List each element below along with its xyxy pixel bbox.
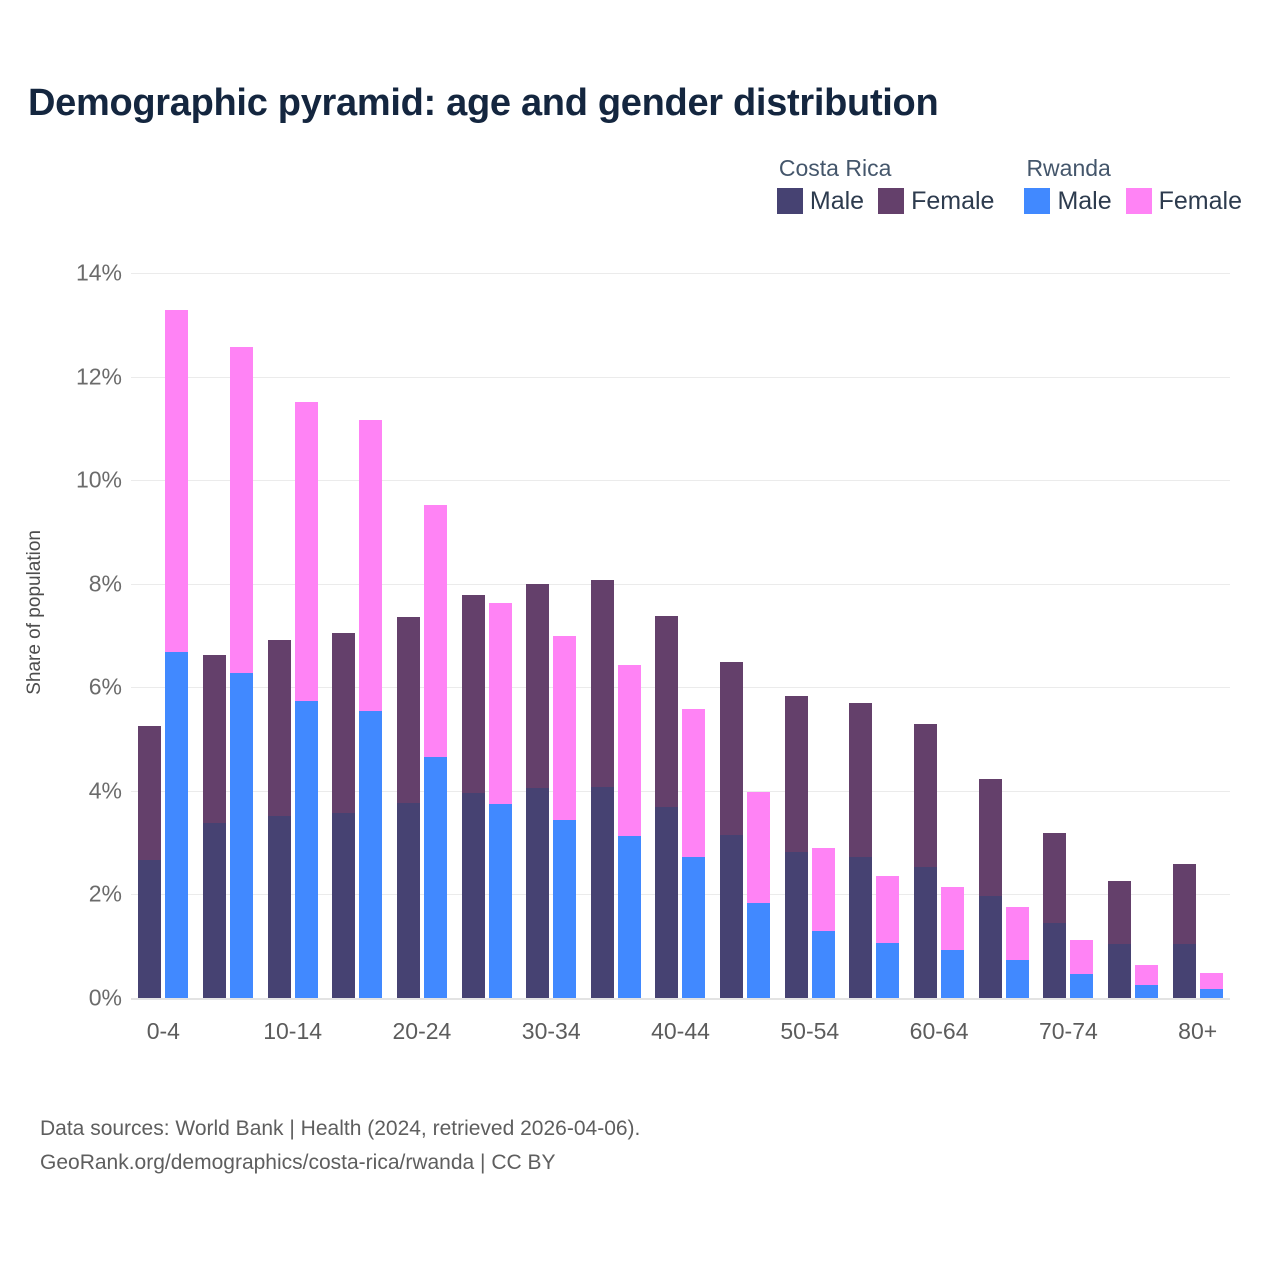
- bar-segment-costa-rica-female-45-49[interactable]: [720, 662, 743, 835]
- bar-segment-rwanda-male-65-69[interactable]: [1006, 960, 1029, 998]
- bar-stack-costa-rica-55-59[interactable]: [849, 273, 872, 998]
- bar-segment-costa-rica-female-60-64[interactable]: [914, 724, 937, 867]
- bar-stack-costa-rica-80+[interactable]: [1173, 273, 1196, 998]
- bar-segment-rwanda-male-45-49[interactable]: [747, 903, 770, 998]
- bar-stack-rwanda-50-54[interactable]: [812, 273, 835, 998]
- bar-segment-rwanda-male-20-24[interactable]: [424, 757, 447, 998]
- legend-entries-rwanda: Male Female: [1024, 188, 1242, 214]
- age-group-80+: [1165, 273, 1230, 998]
- bar-segment-rwanda-male-60-64[interactable]: [941, 950, 964, 998]
- age-group-45-49: [713, 273, 778, 998]
- bar-segment-costa-rica-female-15-19[interactable]: [332, 633, 355, 812]
- bar-stack-rwanda-80+[interactable]: [1200, 273, 1223, 998]
- chart-container: Demographic pyramid: age and gender dist…: [0, 0, 1280, 1280]
- bar-segment-rwanda-female-65-69[interactable]: [1006, 907, 1029, 960]
- bar-stack-costa-rica-15-19[interactable]: [332, 273, 355, 998]
- bar-segment-costa-rica-male-70-74[interactable]: [1043, 923, 1066, 998]
- bar-segment-costa-rica-male-55-59[interactable]: [849, 857, 872, 998]
- bar-stack-rwanda-0-4[interactable]: [165, 273, 188, 998]
- chart-footer: Data sources: World Bank | Health (2024,…: [40, 1112, 640, 1180]
- bar-segment-costa-rica-male-35-39[interactable]: [591, 787, 614, 998]
- y-tick-2%: 2%: [89, 881, 122, 908]
- age-group-55-59: [842, 273, 907, 998]
- bar-segment-costa-rica-female-20-24[interactable]: [397, 617, 420, 803]
- bar-stack-costa-rica-50-54[interactable]: [785, 273, 808, 998]
- age-group-25-29: [454, 273, 519, 998]
- bar-stack-rwanda-60-64[interactable]: [941, 273, 964, 998]
- footer-attribution: GeoRank.org/demographics/costa-rica/rwan…: [40, 1146, 640, 1180]
- bar-segment-rwanda-male-10-14[interactable]: [295, 701, 318, 998]
- y-tick-12%: 12%: [76, 363, 122, 390]
- bar-segment-costa-rica-male-50-54[interactable]: [785, 852, 808, 998]
- bar-stack-costa-rica-5-9[interactable]: [203, 273, 226, 998]
- bar-stack-costa-rica-0-4[interactable]: [138, 273, 161, 998]
- bar-segment-rwanda-male-15-19[interactable]: [359, 711, 382, 998]
- bar-segment-rwanda-female-55-59[interactable]: [876, 876, 899, 943]
- bar-segment-costa-rica-male-20-24[interactable]: [397, 803, 420, 998]
- bar-segment-rwanda-male-55-59[interactable]: [876, 943, 899, 998]
- age-group-65-69: [971, 273, 1036, 998]
- bar-segment-rwanda-male-5-9[interactable]: [230, 673, 253, 998]
- bar-segment-rwanda-male-80+[interactable]: [1200, 989, 1223, 998]
- bar-stack-rwanda-40-44[interactable]: [682, 273, 705, 998]
- y-tick-8%: 8%: [89, 570, 122, 597]
- bar-segment-costa-rica-male-65-69[interactable]: [979, 896, 1002, 998]
- bar-segment-costa-rica-male-10-14[interactable]: [268, 816, 291, 998]
- bar-stack-rwanda-10-14[interactable]: [295, 273, 318, 998]
- bars-layer: [131, 273, 1230, 998]
- bar-segment-rwanda-male-40-44[interactable]: [682, 857, 705, 998]
- age-group-60-64: [907, 273, 972, 998]
- bar-segment-costa-rica-female-10-14[interactable]: [268, 640, 291, 816]
- bar-segment-costa-rica-female-0-4[interactable]: [138, 726, 161, 861]
- bar-segment-costa-rica-male-45-49[interactable]: [720, 835, 743, 998]
- bar-segment-rwanda-male-50-54[interactable]: [812, 931, 835, 998]
- legend-swatch-rwanda-female: [1126, 188, 1152, 214]
- bar-stack-rwanda-35-39[interactable]: [618, 273, 641, 998]
- bar-segment-costa-rica-female-80+[interactable]: [1173, 864, 1196, 943]
- bar-stack-rwanda-65-69[interactable]: [1006, 273, 1029, 998]
- bar-stack-rwanda-75-79[interactable]: [1135, 273, 1158, 998]
- bar-segment-costa-rica-male-80+[interactable]: [1173, 944, 1196, 998]
- bar-segment-rwanda-male-30-34[interactable]: [553, 820, 576, 998]
- bar-stack-costa-rica-75-79[interactable]: [1108, 273, 1131, 998]
- bar-segment-rwanda-female-15-19[interactable]: [359, 420, 382, 711]
- y-tick-6%: 6%: [89, 674, 122, 701]
- x-tick-80+: 80+: [1178, 1018, 1217, 1045]
- age-group-20-24: [390, 273, 455, 998]
- x-tick-20-24: 20-24: [392, 1018, 451, 1045]
- bar-segment-costa-rica-female-5-9[interactable]: [203, 655, 226, 823]
- footer-data-sources: Data sources: World Bank | Health (2024,…: [40, 1112, 640, 1146]
- age-group-35-39: [584, 273, 649, 998]
- age-group-0-4: [131, 273, 196, 998]
- age-group-5-9: [196, 273, 261, 998]
- gridline-0%: [131, 998, 1230, 1000]
- bar-segment-costa-rica-male-75-79[interactable]: [1108, 944, 1131, 998]
- bar-stack-costa-rica-35-39[interactable]: [591, 273, 614, 998]
- bar-segment-rwanda-female-60-64[interactable]: [941, 887, 964, 950]
- bar-stack-rwanda-45-49[interactable]: [747, 273, 770, 998]
- x-tick-10-14: 10-14: [263, 1018, 322, 1045]
- y-axis-tick-labels: 0%2%4%6%8%10%12%14%: [0, 273, 122, 998]
- legend-label-costa-rica-female: Female: [911, 189, 994, 214]
- legend-group-rwanda: Rwanda Male Female: [1024, 155, 1242, 214]
- bar-segment-costa-rica-male-40-44[interactable]: [655, 807, 678, 998]
- legend-entry-costa-rica-male[interactable]: Male: [777, 188, 864, 214]
- bar-segment-rwanda-female-30-34[interactable]: [553, 636, 576, 820]
- bar-segment-costa-rica-male-60-64[interactable]: [914, 867, 937, 998]
- bar-segment-rwanda-male-70-74[interactable]: [1070, 974, 1093, 998]
- legend-label-rwanda-female: Female: [1159, 189, 1242, 214]
- y-tick-10%: 10%: [76, 467, 122, 494]
- bar-segment-rwanda-male-0-4[interactable]: [165, 652, 188, 998]
- bar-segment-rwanda-female-10-14[interactable]: [295, 402, 318, 701]
- bar-stack-rwanda-30-34[interactable]: [553, 273, 576, 998]
- y-tick-4%: 4%: [89, 777, 122, 804]
- bar-stack-costa-rica-30-34[interactable]: [526, 273, 549, 998]
- age-group-50-54: [777, 273, 842, 998]
- legend-swatch-rwanda-male: [1024, 188, 1050, 214]
- bar-stack-costa-rica-70-74[interactable]: [1043, 273, 1066, 998]
- bar-stack-rwanda-70-74[interactable]: [1070, 273, 1093, 998]
- chart-legend: Costa Rica Male Female Rwanda: [777, 155, 1242, 214]
- bar-segment-costa-rica-female-50-54[interactable]: [785, 696, 808, 852]
- legend-swatch-costa-rica-female: [878, 188, 904, 214]
- bar-stack-rwanda-55-59[interactable]: [876, 273, 899, 998]
- x-tick-50-54: 50-54: [780, 1018, 839, 1045]
- bar-segment-rwanda-male-25-29[interactable]: [489, 804, 512, 998]
- legend-swatch-costa-rica-male: [777, 188, 803, 214]
- bar-stack-rwanda-15-19[interactable]: [359, 273, 382, 998]
- bar-stack-rwanda-5-9[interactable]: [230, 273, 253, 998]
- x-tick-60-64: 60-64: [910, 1018, 969, 1045]
- bar-segment-costa-rica-male-5-9[interactable]: [203, 823, 226, 998]
- bar-stack-rwanda-25-29[interactable]: [489, 273, 512, 998]
- legend-group-title-rwanda: Rwanda: [1024, 155, 1110, 182]
- legend-entry-rwanda-male[interactable]: Male: [1024, 188, 1111, 214]
- bar-stack-costa-rica-20-24[interactable]: [397, 273, 420, 998]
- bar-segment-rwanda-female-80+[interactable]: [1200, 973, 1223, 989]
- plot-area: [131, 273, 1230, 998]
- bar-stack-costa-rica-60-64[interactable]: [914, 273, 937, 998]
- bar-segment-rwanda-female-35-39[interactable]: [618, 665, 641, 836]
- bar-segment-costa-rica-male-15-19[interactable]: [332, 813, 355, 998]
- bar-stack-costa-rica-10-14[interactable]: [268, 273, 291, 998]
- bar-segment-costa-rica-female-65-69[interactable]: [979, 779, 1002, 896]
- chart-title: Demographic pyramid: age and gender dist…: [28, 82, 938, 125]
- age-group-10-14: [260, 273, 325, 998]
- bar-stack-costa-rica-40-44[interactable]: [655, 273, 678, 998]
- bar-segment-costa-rica-female-70-74[interactable]: [1043, 833, 1066, 924]
- legend-entries-costa-rica: Male Female: [777, 188, 995, 214]
- x-tick-40-44: 40-44: [651, 1018, 710, 1045]
- bar-stack-costa-rica-25-29[interactable]: [462, 273, 485, 998]
- bar-segment-rwanda-male-35-39[interactable]: [618, 836, 641, 998]
- y-tick-14%: 14%: [76, 260, 122, 287]
- bar-segment-rwanda-female-5-9[interactable]: [230, 347, 253, 673]
- legend-group-costa-rica: Costa Rica Male Female: [777, 155, 995, 214]
- bar-segment-rwanda-male-75-79[interactable]: [1135, 985, 1158, 998]
- bar-segment-rwanda-female-75-79[interactable]: [1135, 965, 1158, 985]
- bar-segment-costa-rica-female-75-79[interactable]: [1108, 881, 1131, 943]
- bar-segment-rwanda-female-50-54[interactable]: [812, 848, 835, 931]
- legend-label-rwanda-male: Male: [1057, 189, 1111, 214]
- bar-segment-costa-rica-female-35-39[interactable]: [591, 580, 614, 787]
- age-group-75-79: [1101, 273, 1166, 998]
- bar-segment-costa-rica-male-30-34[interactable]: [526, 788, 549, 998]
- legend-groups-row: Costa Rica Male Female Rwanda: [777, 155, 1242, 214]
- bar-stack-rwanda-20-24[interactable]: [424, 273, 447, 998]
- y-tick-0%: 0%: [89, 985, 122, 1012]
- bar-segment-costa-rica-male-25-29[interactable]: [462, 793, 485, 998]
- bar-segment-costa-rica-female-25-29[interactable]: [462, 595, 485, 794]
- age-group-70-74: [1036, 273, 1101, 998]
- bar-segment-rwanda-female-0-4[interactable]: [165, 310, 188, 652]
- x-tick-70-74: 70-74: [1039, 1018, 1098, 1045]
- legend-label-costa-rica-male: Male: [810, 189, 864, 214]
- age-group-30-34: [519, 273, 584, 998]
- legend-entry-costa-rica-female[interactable]: Female: [878, 188, 994, 214]
- x-axis-tick-labels: 0-410-1420-2430-3440-4450-5460-6470-7480…: [131, 1018, 1230, 1058]
- bar-segment-rwanda-female-25-29[interactable]: [489, 603, 512, 804]
- x-tick-0-4: 0-4: [147, 1018, 180, 1045]
- bar-stack-costa-rica-65-69[interactable]: [979, 273, 1002, 998]
- bar-stack-costa-rica-45-49[interactable]: [720, 273, 743, 998]
- bar-segment-rwanda-female-45-49[interactable]: [747, 792, 770, 903]
- legend-entry-rwanda-female[interactable]: Female: [1126, 188, 1242, 214]
- age-group-40-44: [648, 273, 713, 998]
- bar-segment-costa-rica-female-30-34[interactable]: [526, 584, 549, 789]
- legend-group-title-costa-rica: Costa Rica: [777, 155, 891, 182]
- age-group-15-19: [325, 273, 390, 998]
- bar-segment-rwanda-female-20-24[interactable]: [424, 505, 447, 757]
- bar-segment-costa-rica-female-40-44[interactable]: [655, 616, 678, 808]
- bar-segment-rwanda-female-40-44[interactable]: [682, 709, 705, 858]
- bar-segment-costa-rica-male-0-4[interactable]: [138, 860, 161, 998]
- bar-segment-costa-rica-female-55-59[interactable]: [849, 703, 872, 857]
- bar-segment-rwanda-female-70-74[interactable]: [1070, 940, 1093, 975]
- x-tick-30-34: 30-34: [522, 1018, 581, 1045]
